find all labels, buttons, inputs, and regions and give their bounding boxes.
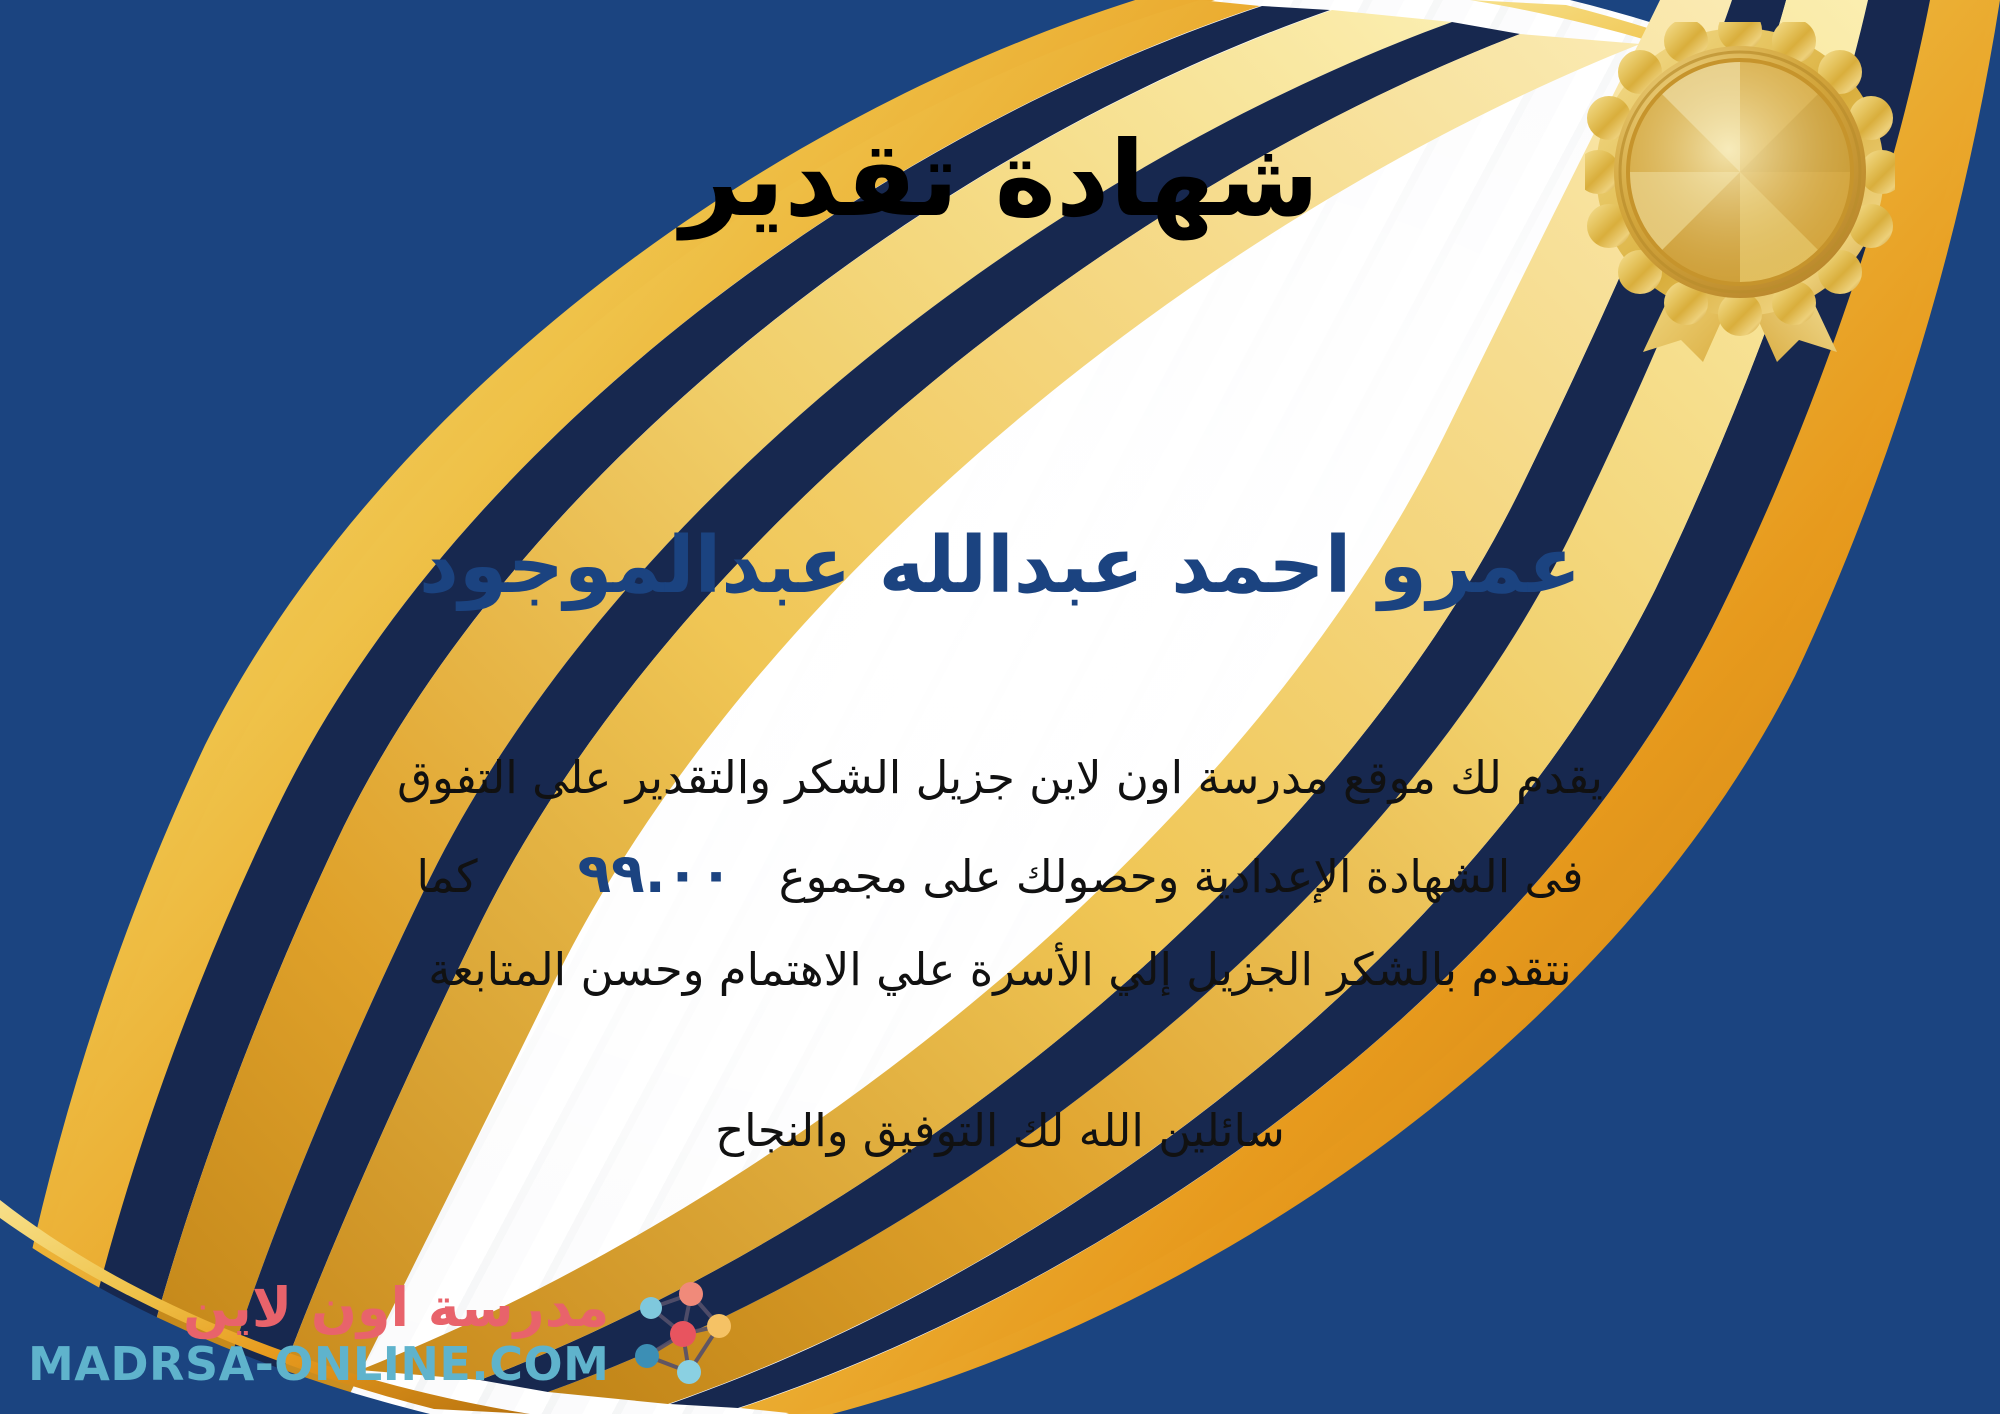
body-line-2-prefix: فى الشهادة الإعدادية وحصولك على مجموع [779, 850, 1584, 903]
brand-name-ar: مدرسة اون لاين [28, 1278, 609, 1338]
body-line-2: فى الشهادة الإعدادية وحصولك على مجموع٩٩.… [230, 821, 1770, 927]
recipient-name: عمرو احمد عبدالله عبدالموجود [220, 520, 1780, 614]
brand-text: مدرسة اون لاين MADRSA-ONLINE.COM [28, 1278, 609, 1389]
certificate-canvas: شهادة تقدير عمرو احمد عبدالله عبدالموجود… [0, 0, 2000, 1414]
score-value: ٩٩.٠٠ [532, 841, 779, 905]
brand-logo[interactable]: مدرسة اون لاين MADRSA-ONLINE.COM [28, 1276, 737, 1392]
body-line-1: يقدم لك موقع مدرسة اون لاين جزيل الشكر و… [230, 735, 1770, 821]
brand-website: MADRSA-ONLINE.COM [28, 1339, 609, 1390]
closing-line: سائلين الله لك التوفيق والنجاح [250, 1095, 1750, 1167]
network-nodes-icon [621, 1276, 737, 1392]
body-line-3: نتقدم بالشكر الجزيل إلي الأسرة علي الاهت… [230, 927, 1770, 1013]
body-line-2-suffix: كما [416, 850, 477, 903]
certificate-content: شهادة تقدير عمرو احمد عبدالله عبدالموجود… [250, 0, 1750, 1414]
page-title: شهادة تقدير [250, 120, 1750, 240]
certificate-body: يقدم لك موقع مدرسة اون لاين جزيل الشكر و… [230, 735, 1770, 1013]
